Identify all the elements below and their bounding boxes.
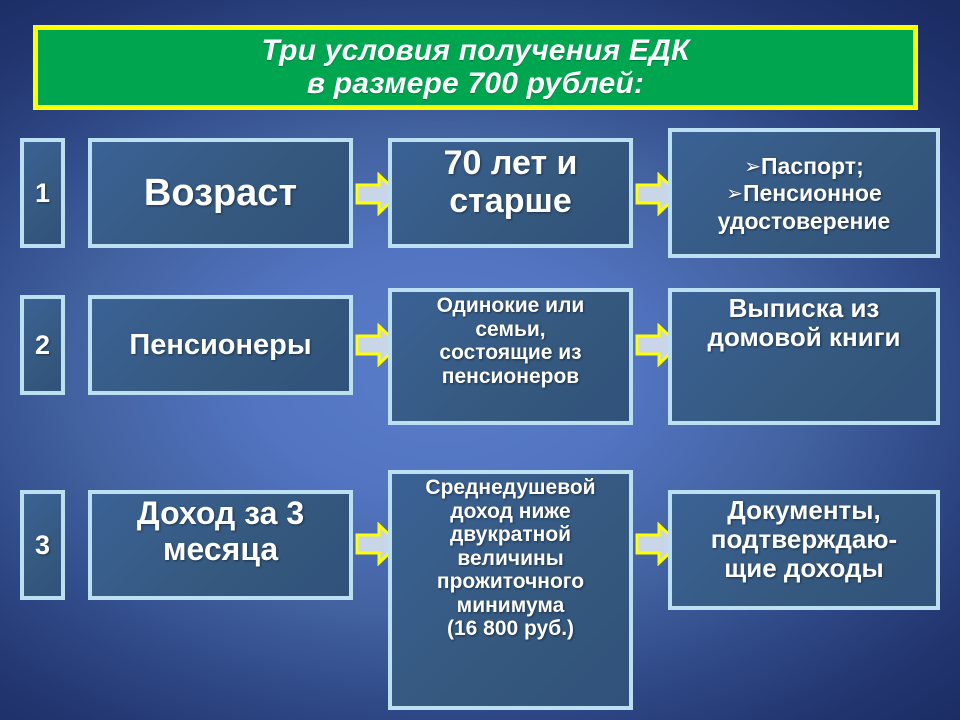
row-3-criterion-line-5: прожиточного: [398, 570, 623, 594]
bullet-arrow-icon: ➢: [744, 156, 761, 178]
row-3-criterion-line-1: Среднедушевой: [398, 476, 623, 500]
row-1-document-item-3: удостоверение: [718, 208, 891, 235]
row-1-document-label-2: Пенсионное: [743, 180, 882, 206]
row-1-criterion-line-2: старше: [398, 182, 623, 220]
row-2-criterion-line-1: Одинокие или: [398, 294, 623, 318]
row-2-criterion-box: Одинокие или семьи, состоящие из пенсион…: [388, 288, 633, 425]
row-1-criterion-line-1: 70 лет и: [398, 144, 623, 182]
row-3-criterion-box: Среднедушевой доход ниже двукратной вели…: [388, 470, 633, 710]
row-3-condition-box: Доход за 3 месяца: [88, 490, 353, 600]
row-3-condition-line-2: месяца: [98, 532, 343, 568]
title-line-2: в размере 700 рублей:: [307, 68, 644, 100]
row-2-number-badge: 2: [20, 295, 65, 395]
row-2-documents-line-1: Выписка из: [678, 294, 930, 323]
row-3-number-badge: 3: [20, 490, 65, 600]
row-1-documents-box: ➢Паспорт; ➢Пенсионное удостоверение: [668, 128, 940, 258]
row-3-documents-line-3: щие доходы: [678, 554, 930, 583]
row-1-document-item-1: ➢Паспорт;: [718, 153, 891, 180]
row-1-document-item-2: ➢Пенсионное: [718, 180, 891, 207]
row-1-document-label-1: Паспорт;: [761, 153, 864, 179]
slide-canvas: Три условия получения ЕДК в размере 700 …: [0, 0, 960, 720]
row-2-criterion-line-3: состоящие из: [398, 341, 623, 365]
row-3-condition-line-1: Доход за 3: [98, 496, 343, 532]
row-1-condition-box: Возраст: [88, 138, 353, 248]
row-3-documents-box: Документы, подтверждаю- щие доходы: [668, 490, 940, 610]
row-2-documents-line-2: домовой книги: [678, 323, 930, 352]
bullet-arrow-icon: ➢: [726, 183, 743, 205]
row-2-criterion-line-2: семьи,: [398, 318, 623, 342]
row-3-criterion-line-3: двукратной: [398, 523, 623, 547]
row-3-documents-line-2: подтверждаю-: [678, 525, 930, 554]
row-3-criterion-line-6: минимума: [398, 594, 623, 618]
row-1-number-badge: 1: [20, 138, 65, 248]
row-1-documents-list: ➢Паспорт; ➢Пенсионное удостоверение: [718, 151, 891, 234]
row-1-criterion-box: 70 лет и старше: [388, 138, 633, 248]
row-2-criterion-line-4: пенсионеров: [398, 365, 623, 389]
row-2-condition-box: Пенсионеры: [88, 295, 353, 395]
row-3-criterion-line-4: величины: [398, 547, 623, 571]
row-3-criterion-line-2: доход ниже: [398, 500, 623, 524]
title-line-1: Три условия получения ЕДК: [261, 35, 689, 67]
row-3-criterion-line-7: (16 800 руб.): [398, 617, 623, 641]
row-2-documents-box: Выписка из домовой книги: [668, 288, 940, 425]
row-3-documents-line-1: Документы,: [678, 496, 930, 525]
title-banner: Три условия получения ЕДК в размере 700 …: [33, 25, 918, 110]
